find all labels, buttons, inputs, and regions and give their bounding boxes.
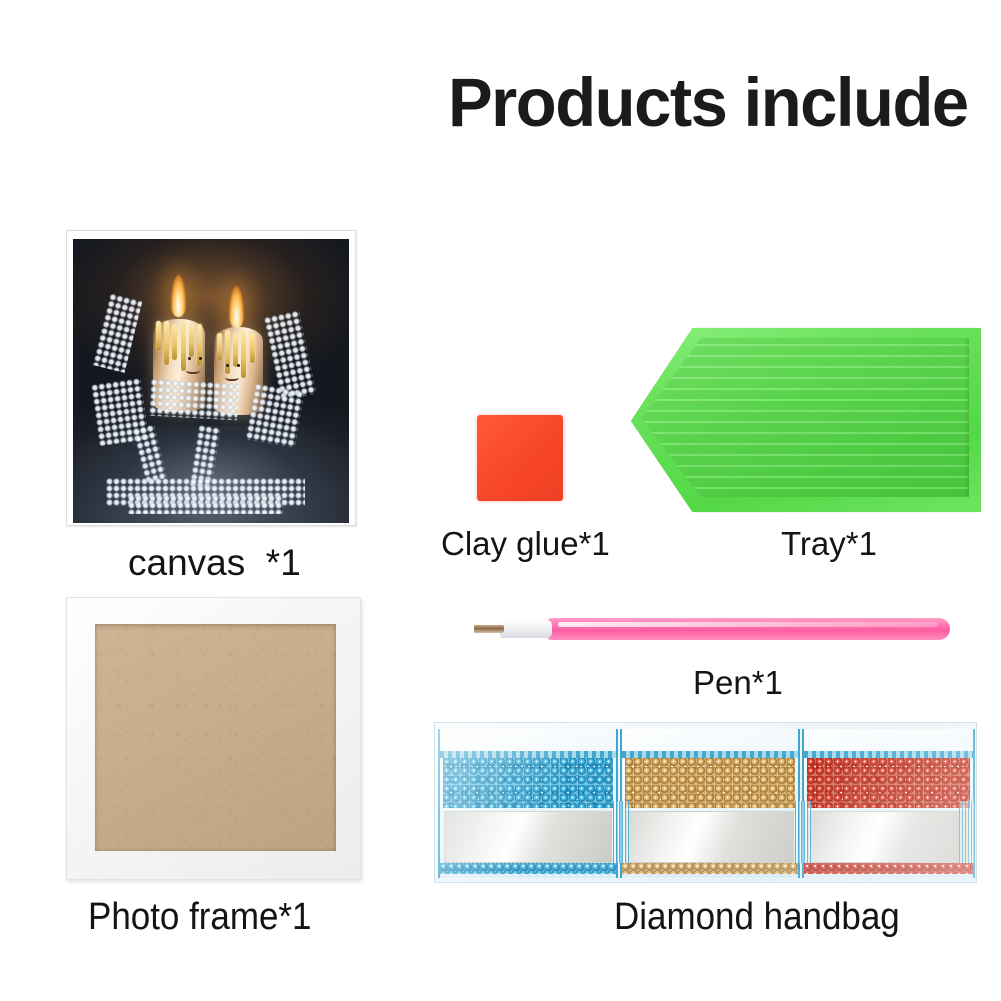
- bag-zip-seal: [804, 751, 973, 758]
- tray-label: Tray*1: [781, 524, 877, 564]
- rhinestone-bag-blue: [438, 729, 618, 878]
- rhinestone-bag-red: [802, 729, 975, 878]
- canvas-artwork-image: [73, 239, 349, 523]
- clay-glue-square: [477, 415, 563, 501]
- bag-seam-ribs: [959, 801, 975, 863]
- candle-face-smile: [225, 372, 239, 381]
- canvas-product-image: [66, 230, 356, 526]
- drill-tray: [629, 324, 981, 516]
- wax-drip-gem: [164, 321, 169, 365]
- bag-bottom-gems: [440, 863, 616, 874]
- pen-collar: [500, 620, 552, 638]
- pen-tip: [474, 625, 504, 633]
- wax-drip-gem: [241, 330, 246, 378]
- bag-foil-label: [444, 811, 612, 863]
- product-contents-poster: Products include: [0, 0, 1001, 1001]
- wax-drip-gem: [233, 333, 238, 367]
- bag-foil-label: [808, 811, 969, 863]
- bag-foil-label: [626, 811, 794, 863]
- wax-drip-gem: [156, 321, 161, 351]
- wax-drip-gem: [189, 324, 194, 357]
- pen-highlight: [558, 622, 938, 627]
- candle-face-smile: [186, 365, 200, 374]
- wax-drip-gem: [225, 330, 230, 374]
- rhinestone-strand: [92, 293, 142, 373]
- pen-label: Pen*1: [693, 663, 783, 703]
- rhinestone-bag-gold: [620, 729, 800, 878]
- bag-seam-ribs: [795, 801, 811, 863]
- wax-drip-gem: [197, 324, 202, 366]
- diamond-handbag-label: Diamond handbag: [614, 894, 900, 940]
- photo-frame-label: Photo frame*1: [88, 894, 311, 940]
- page-title: Products include: [448, 63, 977, 143]
- bag-gems-gold: [625, 758, 795, 808]
- candle-flame-right-icon: [229, 286, 244, 329]
- clay-glue-label: Clay glue*1: [441, 524, 610, 564]
- bag-zip-seal: [622, 751, 798, 758]
- canvas-label: canvas *1: [128, 541, 301, 585]
- bag-gems-red: [807, 758, 970, 808]
- bag-gems-blue: [443, 758, 613, 808]
- rhinestone-strand: [245, 383, 304, 448]
- wax-drip-gem: [217, 333, 222, 361]
- drill-pen: [474, 618, 950, 640]
- bag-bottom-gems: [804, 863, 973, 874]
- photo-frame: [66, 597, 361, 880]
- wax-drip-gem: [181, 321, 186, 371]
- wax-drip-gem: [172, 324, 177, 360]
- rhinestone-bags: [434, 722, 977, 883]
- candle-face-eye: [199, 357, 202, 360]
- bag-zip-seal: [440, 751, 616, 758]
- bag-seam-ribs: [613, 801, 629, 863]
- candle-face-eye: [188, 357, 191, 360]
- wax-drip-gem: [250, 333, 255, 363]
- rhinestone-strand: [128, 495, 283, 515]
- candle-flame-left-icon: [171, 275, 186, 318]
- tray-inner-grooves: [638, 333, 969, 502]
- rhinestone-strand: [149, 379, 239, 420]
- frame-backing-board: [95, 624, 336, 851]
- bag-bottom-gems: [622, 863, 798, 874]
